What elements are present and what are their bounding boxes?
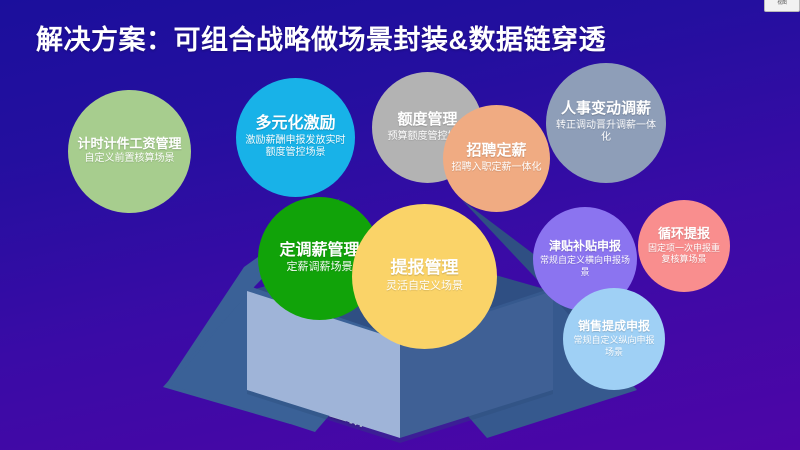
bubble-sales-commission-declaration[interactable]: 销售提成申报常规自定义纵向申报场景: [563, 288, 665, 390]
bubble-personnel-change-salary[interactable]: 人事变动调薪转正调动晋升调薪一体化: [546, 63, 666, 183]
bubble-subtitle: 定薪调薪场景: [287, 261, 353, 275]
bubble-subtitle: 转正调动晋升调薪一体化: [553, 120, 659, 145]
bubble-title: 提报管理: [391, 259, 459, 278]
bubble-recruitment-salary[interactable]: 招聘定薪招聘入职定薪一体化: [443, 105, 550, 212]
bubble-title: 销售提成申报: [578, 320, 650, 333]
bubble-layer: 计时计件工资管理自定义前置核算场景多元化激励激励薪酬申报发放实时额度管控场景额度…: [0, 0, 800, 450]
bubble-subtitle: 自定义前置核算场景: [85, 153, 175, 166]
bubble-subtitle: 灵活自定义场景: [386, 280, 463, 294]
bubble-hourly-piecework-wage[interactable]: 计时计件工资管理自定义前置核算场景: [68, 90, 191, 213]
bubble-title: 人事变动调薪: [561, 101, 651, 118]
bubble-subtitle: 招聘入职定薪一体化: [452, 162, 542, 175]
bubble-title: 津贴补贴申报: [549, 240, 621, 253]
bubble-title: 多元化激励: [255, 115, 335, 133]
bubble-recurring-submission[interactable]: 循环提报固定项一次申报重复核算场景: [638, 200, 730, 292]
bubble-title: 循环提报: [658, 227, 710, 241]
bubble-title: 计时计件工资管理: [77, 137, 181, 151]
bubble-submission-management[interactable]: 提报管理灵活自定义场景: [352, 204, 497, 349]
bubble-subtitle: 常规自定义纵向申报场景: [570, 335, 658, 358]
bubble-subtitle: 激励薪酬申报发放实时额度管控场景: [243, 135, 348, 160]
bubble-title: 定调薪管理: [279, 242, 359, 260]
bubble-title: 额度管理: [397, 112, 457, 129]
bubble-title: 招聘定薪: [466, 143, 526, 160]
bubble-subtitle: 固定项一次申报重复核算场景: [645, 243, 723, 266]
bubble-subtitle: 常规自定义横向申报场景: [540, 255, 630, 278]
bubble-diversified-incentive[interactable]: 多元化激励激励薪酬申报发放实时额度管控场景: [236, 78, 355, 197]
slide-canvas: 解决方案：可组合战略做场景封装&数据链穿透 视图 计时计件工资管理自定义前置核算…: [0, 0, 800, 450]
